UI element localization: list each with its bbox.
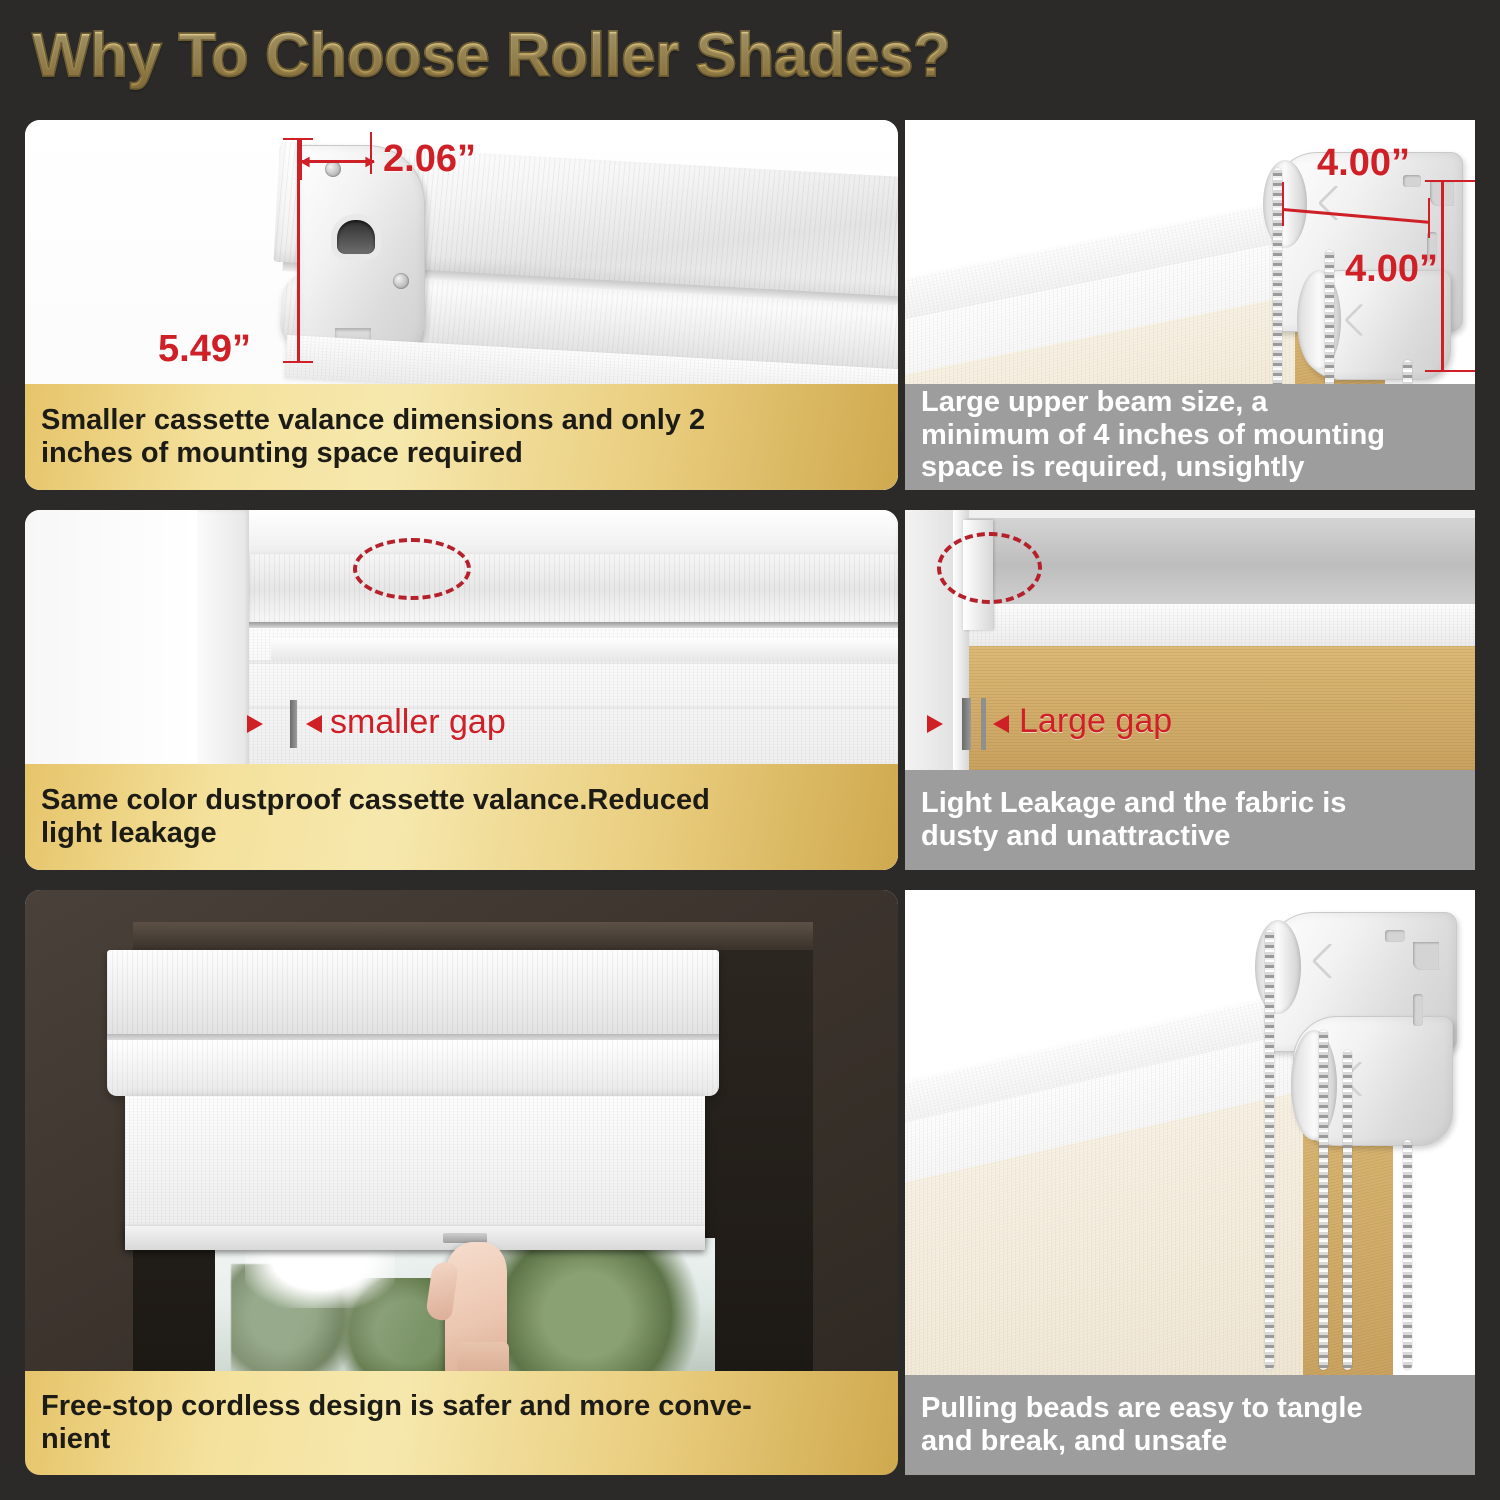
bead-chain-middle [1319, 1030, 1328, 1370]
caption-pulling-beads: Pulling beads are easy to tangle and bre… [905, 1375, 1475, 1475]
bead-chain-loose [1403, 1140, 1412, 1370]
panel-dustproof-cassette-valance: smaller gap Same color dustproof cassett… [25, 510, 898, 870]
caption-cassette-valance-dimensions: Smaller cassette valance dimensions and … [25, 384, 898, 490]
width-dim-arrow-left [300, 157, 310, 168]
caption-large-upper-beam: Large upper beam size, a minimum of 4 in… [905, 384, 1475, 490]
gap-highlight-ellipse [937, 532, 1042, 604]
caption-line-1: Free-stop cordless design is safer and m… [41, 1390, 752, 1422]
width-dim-arrow-right [365, 157, 375, 168]
valance-headrail-lip [107, 1040, 719, 1096]
height-dim-tick-top [283, 138, 313, 140]
caption-line-3: space is required, unsightly [921, 451, 1305, 483]
shade-bottom-rail [125, 1226, 705, 1250]
infographic-page: Why To Choose Roller Shades? [0, 0, 1500, 1500]
shade-fabric [125, 1096, 705, 1241]
bracket-width-tick-left [1282, 182, 1284, 226]
free-stop-mechanism [337, 220, 375, 254]
panel-free-stop-cordless: Free-stop cordless design is safer and m… [25, 890, 898, 1475]
caption-line-1: Large upper beam size, a [921, 386, 1268, 418]
cassette-valance-bar [249, 554, 898, 626]
bracket-height-dimension-label: 4.00” [1345, 248, 1438, 291]
panel-light-leakage: Large gap Light Leakage and the fabric i… [905, 510, 1475, 870]
caption-line-1: Smaller cassette valance dimensions and … [41, 404, 705, 436]
smaller-gap-label: smaller gap [330, 703, 506, 742]
caption-line-2: dusty and unattractive [921, 820, 1230, 852]
panel-large-upper-beam: 4.00” 4.00” Large upper beam size, a min… [905, 120, 1475, 490]
gap-arrow-right [306, 715, 322, 733]
width-dim-tick-right [370, 132, 372, 174]
roller-tube-band [969, 604, 1475, 646]
gap-marker-light [981, 698, 986, 750]
width-dimension-label: 2.06” [383, 138, 476, 181]
window-recess-top-ledge [133, 922, 813, 950]
large-gap-label: Large gap [1019, 702, 1172, 741]
panel-cassette-valance-dimensions: 2.06” 5.49” Smaller cassette valance dim… [25, 120, 898, 490]
roller-disc-upper [1255, 920, 1301, 1014]
bracket-height-dim-line [1441, 180, 1444, 372]
end-cap-screw-top [325, 161, 341, 177]
window-frame-left [195, 510, 249, 790]
caption-line-2: inches of mounting space required [41, 437, 523, 469]
valance-headrail [107, 950, 719, 1038]
caption-line-2: light leakage [41, 817, 217, 849]
panel-pulling-beads: Pulling beads are easy to tangle and bre… [905, 890, 1475, 1475]
caption-free-stop-cordless: Free-stop cordless design is safer and m… [25, 1371, 898, 1475]
wall-left [25, 510, 197, 790]
caption-line-2: and break, and unsafe [921, 1425, 1227, 1457]
upper-beam [969, 518, 1475, 604]
roller-disc-lower [1291, 1030, 1337, 1140]
gap-arrow-left [247, 715, 263, 733]
valance-end-rail [271, 638, 898, 660]
caption-line-2: nient [41, 1423, 110, 1455]
bracket-height-tick-bottom [1425, 370, 1475, 372]
gap-marker-dark [290, 700, 297, 748]
bead-chain-rear [1343, 1050, 1352, 1370]
roller-disc-upper [1263, 160, 1307, 248]
bracket-slot-corner [1413, 942, 1439, 970]
gap-highlight-ellipse-main [353, 538, 471, 600]
page-title: Why To Choose Roller Shades? [32, 20, 950, 91]
fabric-band-1 [249, 660, 898, 664]
window-frame-top [195, 510, 898, 556]
caption-line-1: Pulling beads are easy to tangle [921, 1392, 1363, 1424]
bracket-height-tick-top [1425, 180, 1475, 182]
bracket-slot-side [1413, 994, 1423, 1026]
width-dim-line [300, 160, 374, 163]
caption-line-1: Same color dustproof cassette valance.Re… [41, 784, 710, 816]
caption-light-leakage: Light Leakage and the fabric is dusty an… [905, 770, 1475, 870]
bracket-slot-top [1385, 930, 1405, 942]
height-dim-tick-bottom [283, 361, 313, 363]
end-cap-screw-mid [393, 273, 409, 289]
height-dim-line [297, 138, 300, 363]
gap-arrow-right [993, 715, 1009, 733]
bracket-width-dimension-label: 4.00” [1317, 142, 1410, 185]
caption-line-1: Light Leakage and the fabric is [921, 787, 1346, 819]
caption-line-2: minimum of 4 inches of mounting [921, 419, 1385, 451]
caption-dustproof-cassette-valance: Same color dustproof cassette valance.Re… [25, 764, 898, 870]
roller-disc-lower [1297, 270, 1341, 370]
height-dimension-label: 5.49” [158, 328, 251, 371]
bracket-width-tick-right [1428, 198, 1430, 238]
gap-arrow-left [927, 715, 943, 733]
bead-chain-front [1265, 930, 1274, 1370]
gap-marker-dark [962, 698, 971, 750]
